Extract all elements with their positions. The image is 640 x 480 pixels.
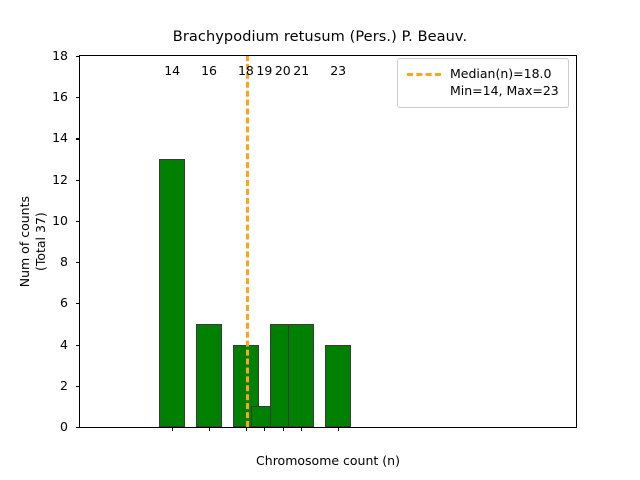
- x-tick-mark: [172, 427, 173, 431]
- x-axis-label: Chromosome count (n): [79, 453, 577, 468]
- y-tick-label: 8: [60, 256, 68, 269]
- legend-label: Median(n)=18.0 Min=14, Max=23: [450, 65, 559, 100]
- median-line: [246, 56, 249, 427]
- x-tick-mark: [283, 427, 284, 431]
- plot-inner: [80, 56, 576, 427]
- bar: [325, 345, 351, 427]
- y-tick-label: 6: [60, 297, 68, 310]
- bar: [159, 159, 185, 427]
- x-tick-label: 14: [164, 65, 180, 78]
- y-tick-label: 16: [52, 91, 68, 104]
- x-tick-label: 18: [238, 65, 254, 78]
- y-tick-label: 14: [52, 132, 68, 145]
- y-tick-mark: [76, 221, 80, 222]
- y-tick-mark: [76, 262, 80, 263]
- x-tick-label: 20: [275, 65, 291, 78]
- x-tick-label: 16: [201, 65, 217, 78]
- y-tick-mark: [76, 345, 80, 346]
- y-tick-mark: [76, 138, 80, 139]
- y-tick-mark: [76, 97, 80, 98]
- x-tick-mark: [209, 427, 210, 431]
- y-tick-label: 4: [60, 338, 68, 351]
- y-tick-mark: [76, 180, 80, 181]
- y-tick-mark: [76, 427, 80, 428]
- x-tick-mark: [301, 427, 302, 431]
- x-tick-mark: [246, 427, 247, 431]
- y-axis-label: Num of counts (Total 37): [16, 55, 50, 428]
- chart-title: Brachypodium retusum (Pers.) P. Beauv.: [0, 29, 640, 45]
- legend-label-line1: Median(n)=18.0: [450, 65, 559, 82]
- y-tick-mark: [76, 303, 80, 304]
- y-tick-label: 0: [60, 421, 68, 434]
- plot-area: 02468101214161814161819202123: [79, 55, 577, 428]
- x-tick-label: 19: [256, 65, 272, 78]
- y-tick-label: 10: [52, 215, 68, 228]
- legend: Median(n)=18.0 Min=14, Max=23: [397, 58, 569, 108]
- bar: [196, 324, 222, 427]
- y-tick-label: 18: [52, 50, 68, 63]
- legend-dashed-line-icon: [407, 68, 441, 82]
- figure-canvas: Brachypodium retusum (Pers.) P. Beauv. N…: [0, 0, 640, 480]
- y-tick-mark: [76, 386, 80, 387]
- y-axis-label-line2: (Total 37): [33, 196, 49, 287]
- y-tick-label: 2: [60, 380, 68, 393]
- y-axis-label-line1: Num of counts: [17, 196, 33, 287]
- legend-label-line2: Min=14, Max=23: [450, 82, 559, 99]
- x-tick-label: 21: [293, 65, 309, 78]
- x-tick-mark: [264, 427, 265, 431]
- x-tick-label: 23: [330, 65, 346, 78]
- bar: [288, 324, 314, 427]
- y-tick-mark: [76, 56, 80, 57]
- y-tick-label: 12: [52, 173, 68, 186]
- x-tick-mark: [338, 427, 339, 431]
